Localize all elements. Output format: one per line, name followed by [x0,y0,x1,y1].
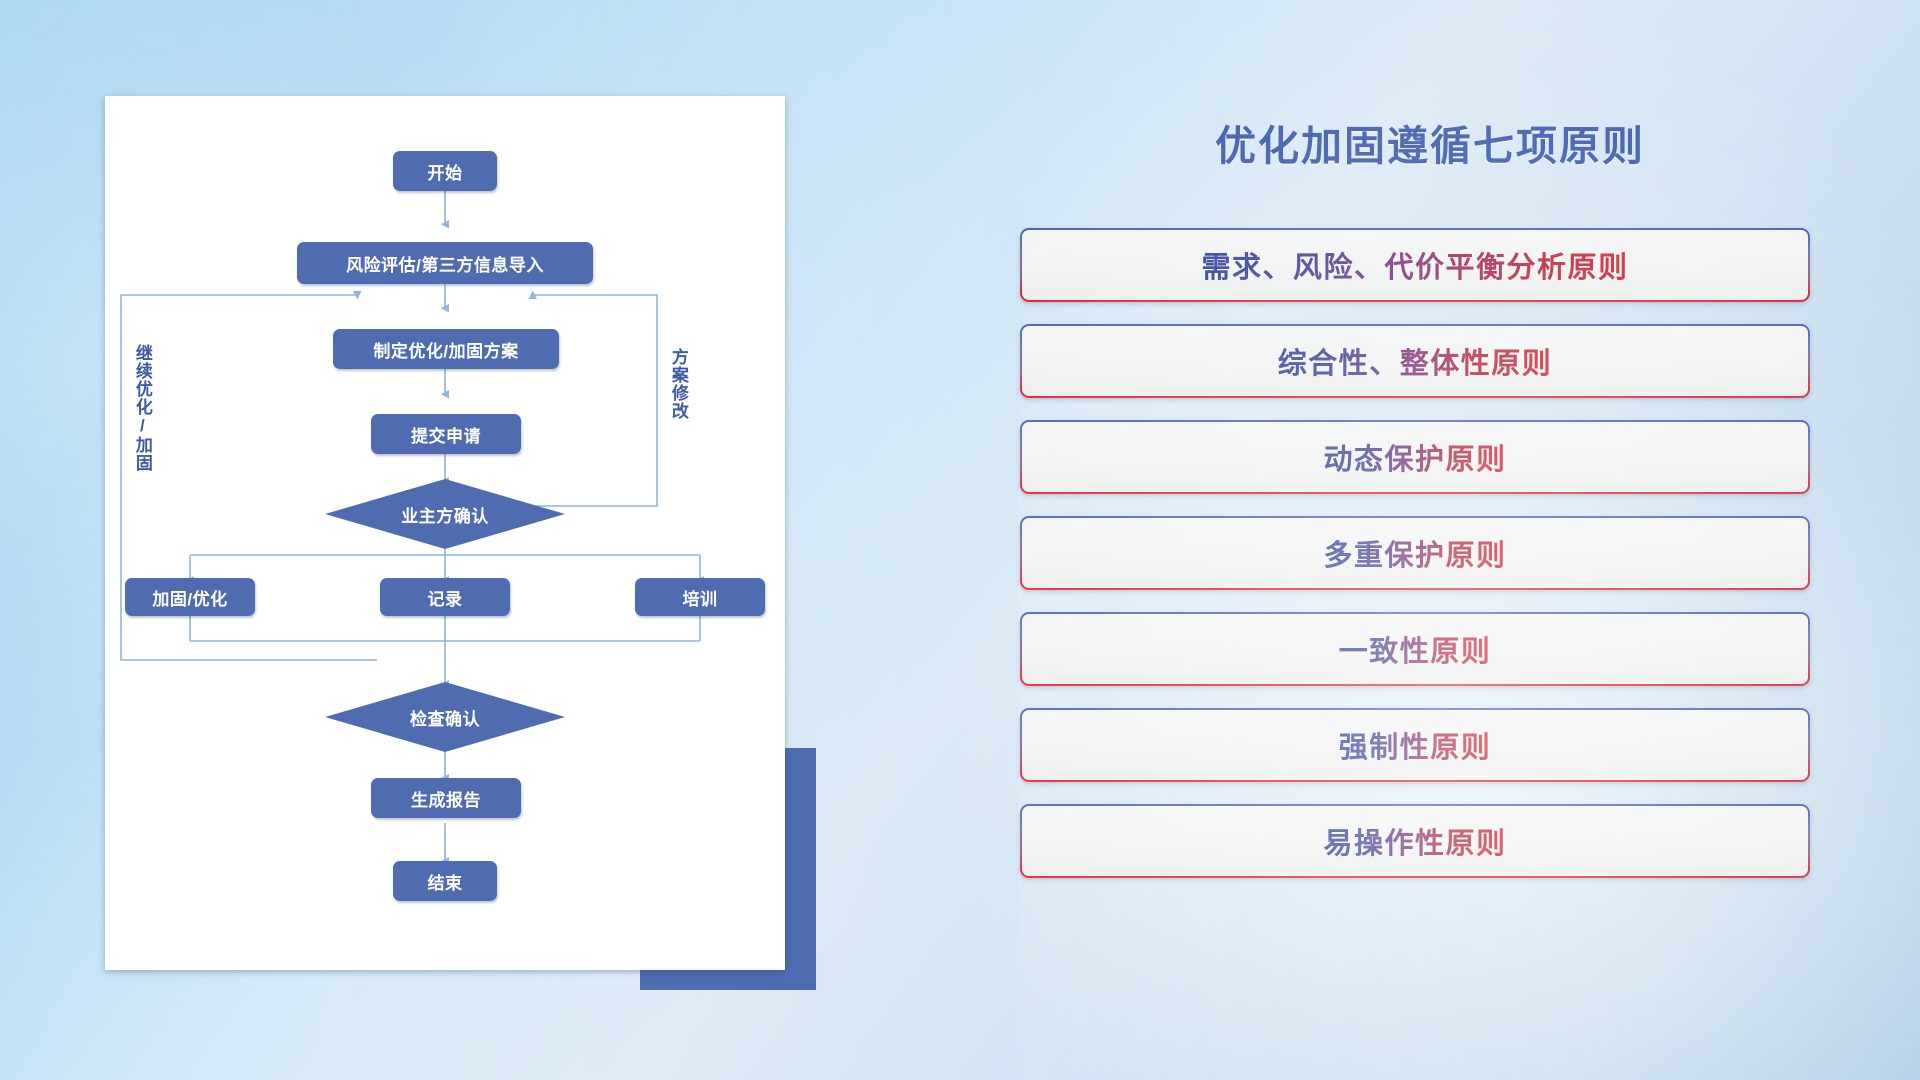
principle-card-4-inner: 多重保护原则 [1022,518,1808,588]
principle-label-6: 强制性原则 [1339,724,1492,766]
principle-label-3: 动态保护原则 [1323,436,1506,478]
principle-card-7[interactable]: 易操作性原则 [1020,804,1810,878]
node-training[interactable]: 培训 [635,578,765,616]
panel-title: 优化加固遵循七项原则 [1020,112,1840,172]
node-report[interactable]: 生成报告 [371,778,521,818]
node-start[interactable]: 开始 [393,151,497,191]
edge-label-left: 继续优化/加固 [133,344,151,472]
principle-card-3[interactable]: 动态保护原则 [1020,420,1810,494]
principle-card-2-inner: 综合性、整体性原则 [1022,326,1808,396]
node-record-label: 记录 [428,585,463,610]
principle-card-5[interactable]: 一致性原则 [1020,612,1810,686]
node-reinforce-label: 加固/优化 [152,585,227,610]
node-report-label: 生成报告 [411,786,481,811]
principle-card-6-inner: 强制性原则 [1022,710,1808,780]
node-end[interactable]: 结束 [393,861,497,901]
node-start-label: 开始 [428,159,463,184]
principles-list: 需求、风险、代价平衡分析原则 综合性、整体性原则 动态保护原则 多重保护原则 [1020,228,1810,900]
principle-card-4[interactable]: 多重保护原则 [1020,516,1810,590]
principle-card-7-inner: 易操作性原则 [1022,806,1808,876]
principle-card-5-inner: 一致性原则 [1022,614,1808,684]
principle-label-5: 一致性原则 [1339,628,1492,670]
principle-card-2[interactable]: 综合性、整体性原则 [1020,324,1810,398]
node-reinforce[interactable]: 加固/优化 [125,578,255,616]
principle-card-1[interactable]: 需求、风险、代价平衡分析原则 [1020,228,1810,302]
node-risk-assessment-label: 风险评估/第三方信息导入 [346,251,544,276]
node-training-label: 培训 [683,585,718,610]
principle-card-6[interactable]: 强制性原则 [1020,708,1810,782]
principle-label-1: 需求、风险、代价平衡分析原则 [1201,244,1628,286]
node-submit[interactable]: 提交申请 [371,414,521,454]
node-plan-label: 制定优化/加固方案 [373,337,518,362]
flowchart-card: 开始 风险评估/第三方信息导入 制定优化/加固方案 提交申请 业主方确认 加固/… [105,96,785,970]
principle-card-1-inner: 需求、风险、代价平衡分析原则 [1022,230,1808,300]
principle-card-3-inner: 动态保护原则 [1022,422,1808,492]
node-plan[interactable]: 制定优化/加固方案 [333,329,559,369]
principle-label-2: 综合性、整体性原则 [1278,340,1553,382]
principle-label-4: 多重保护原则 [1323,532,1506,574]
edge-label-right: 方案修改 [669,348,687,420]
principles-panel: 优化加固遵循七项原则 需求、风险、代价平衡分析原则 综合性、整体性原则 动态保护… [1020,96,1840,1016]
node-submit-label: 提交申请 [411,422,481,447]
node-owner-confirm-label: 业主方确认 [325,479,565,549]
node-inspection-confirm-label: 检查确认 [325,682,565,752]
node-end-label: 结束 [428,869,463,894]
node-risk-assessment[interactable]: 风险评估/第三方信息导入 [297,242,593,284]
slide-canvas: 开始 风险评估/第三方信息导入 制定优化/加固方案 提交申请 业主方确认 加固/… [0,0,1920,1080]
principle-label-7: 易操作性原则 [1323,820,1506,862]
node-owner-confirm[interactable]: 业主方确认 [325,479,565,549]
flowchart-inner: 开始 风险评估/第三方信息导入 制定优化/加固方案 提交申请 业主方确认 加固/… [105,96,785,970]
node-inspection-confirm[interactable]: 检查确认 [325,682,565,752]
node-record[interactable]: 记录 [380,578,510,616]
